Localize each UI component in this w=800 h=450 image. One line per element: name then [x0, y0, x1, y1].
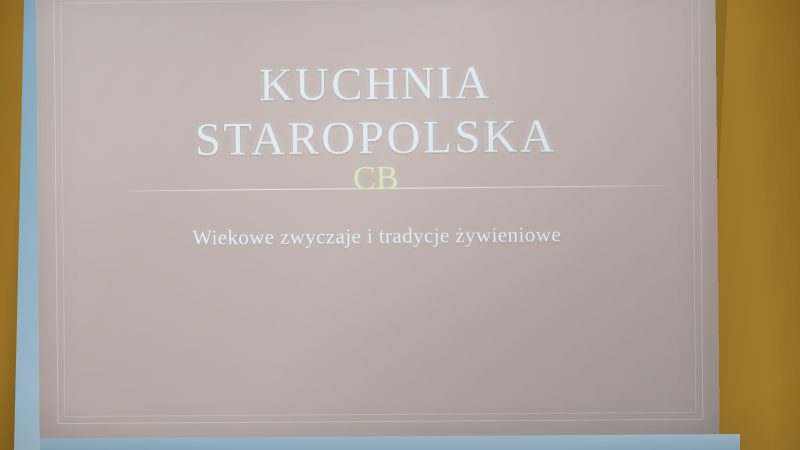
- slide-content: KUCHNIA STAROPOLSKA CB Wiekowe zwyczaje …: [36, 54, 718, 252]
- title-divider-row: CB: [37, 165, 717, 206]
- projected-slide: KUCHNIA STAROPOLSKA CB Wiekowe zwyczaje …: [35, 0, 719, 446]
- slide-title: KUCHNIA STAROPOLSKA: [36, 54, 717, 169]
- screenshot-stage: KUCHNIA STAROPOLSKA CB Wiekowe zwyczaje …: [0, 0, 800, 450]
- flourish-ornament-icon: CB: [37, 159, 717, 200]
- slide-title-line-1: KUCHNIA: [36, 54, 716, 115]
